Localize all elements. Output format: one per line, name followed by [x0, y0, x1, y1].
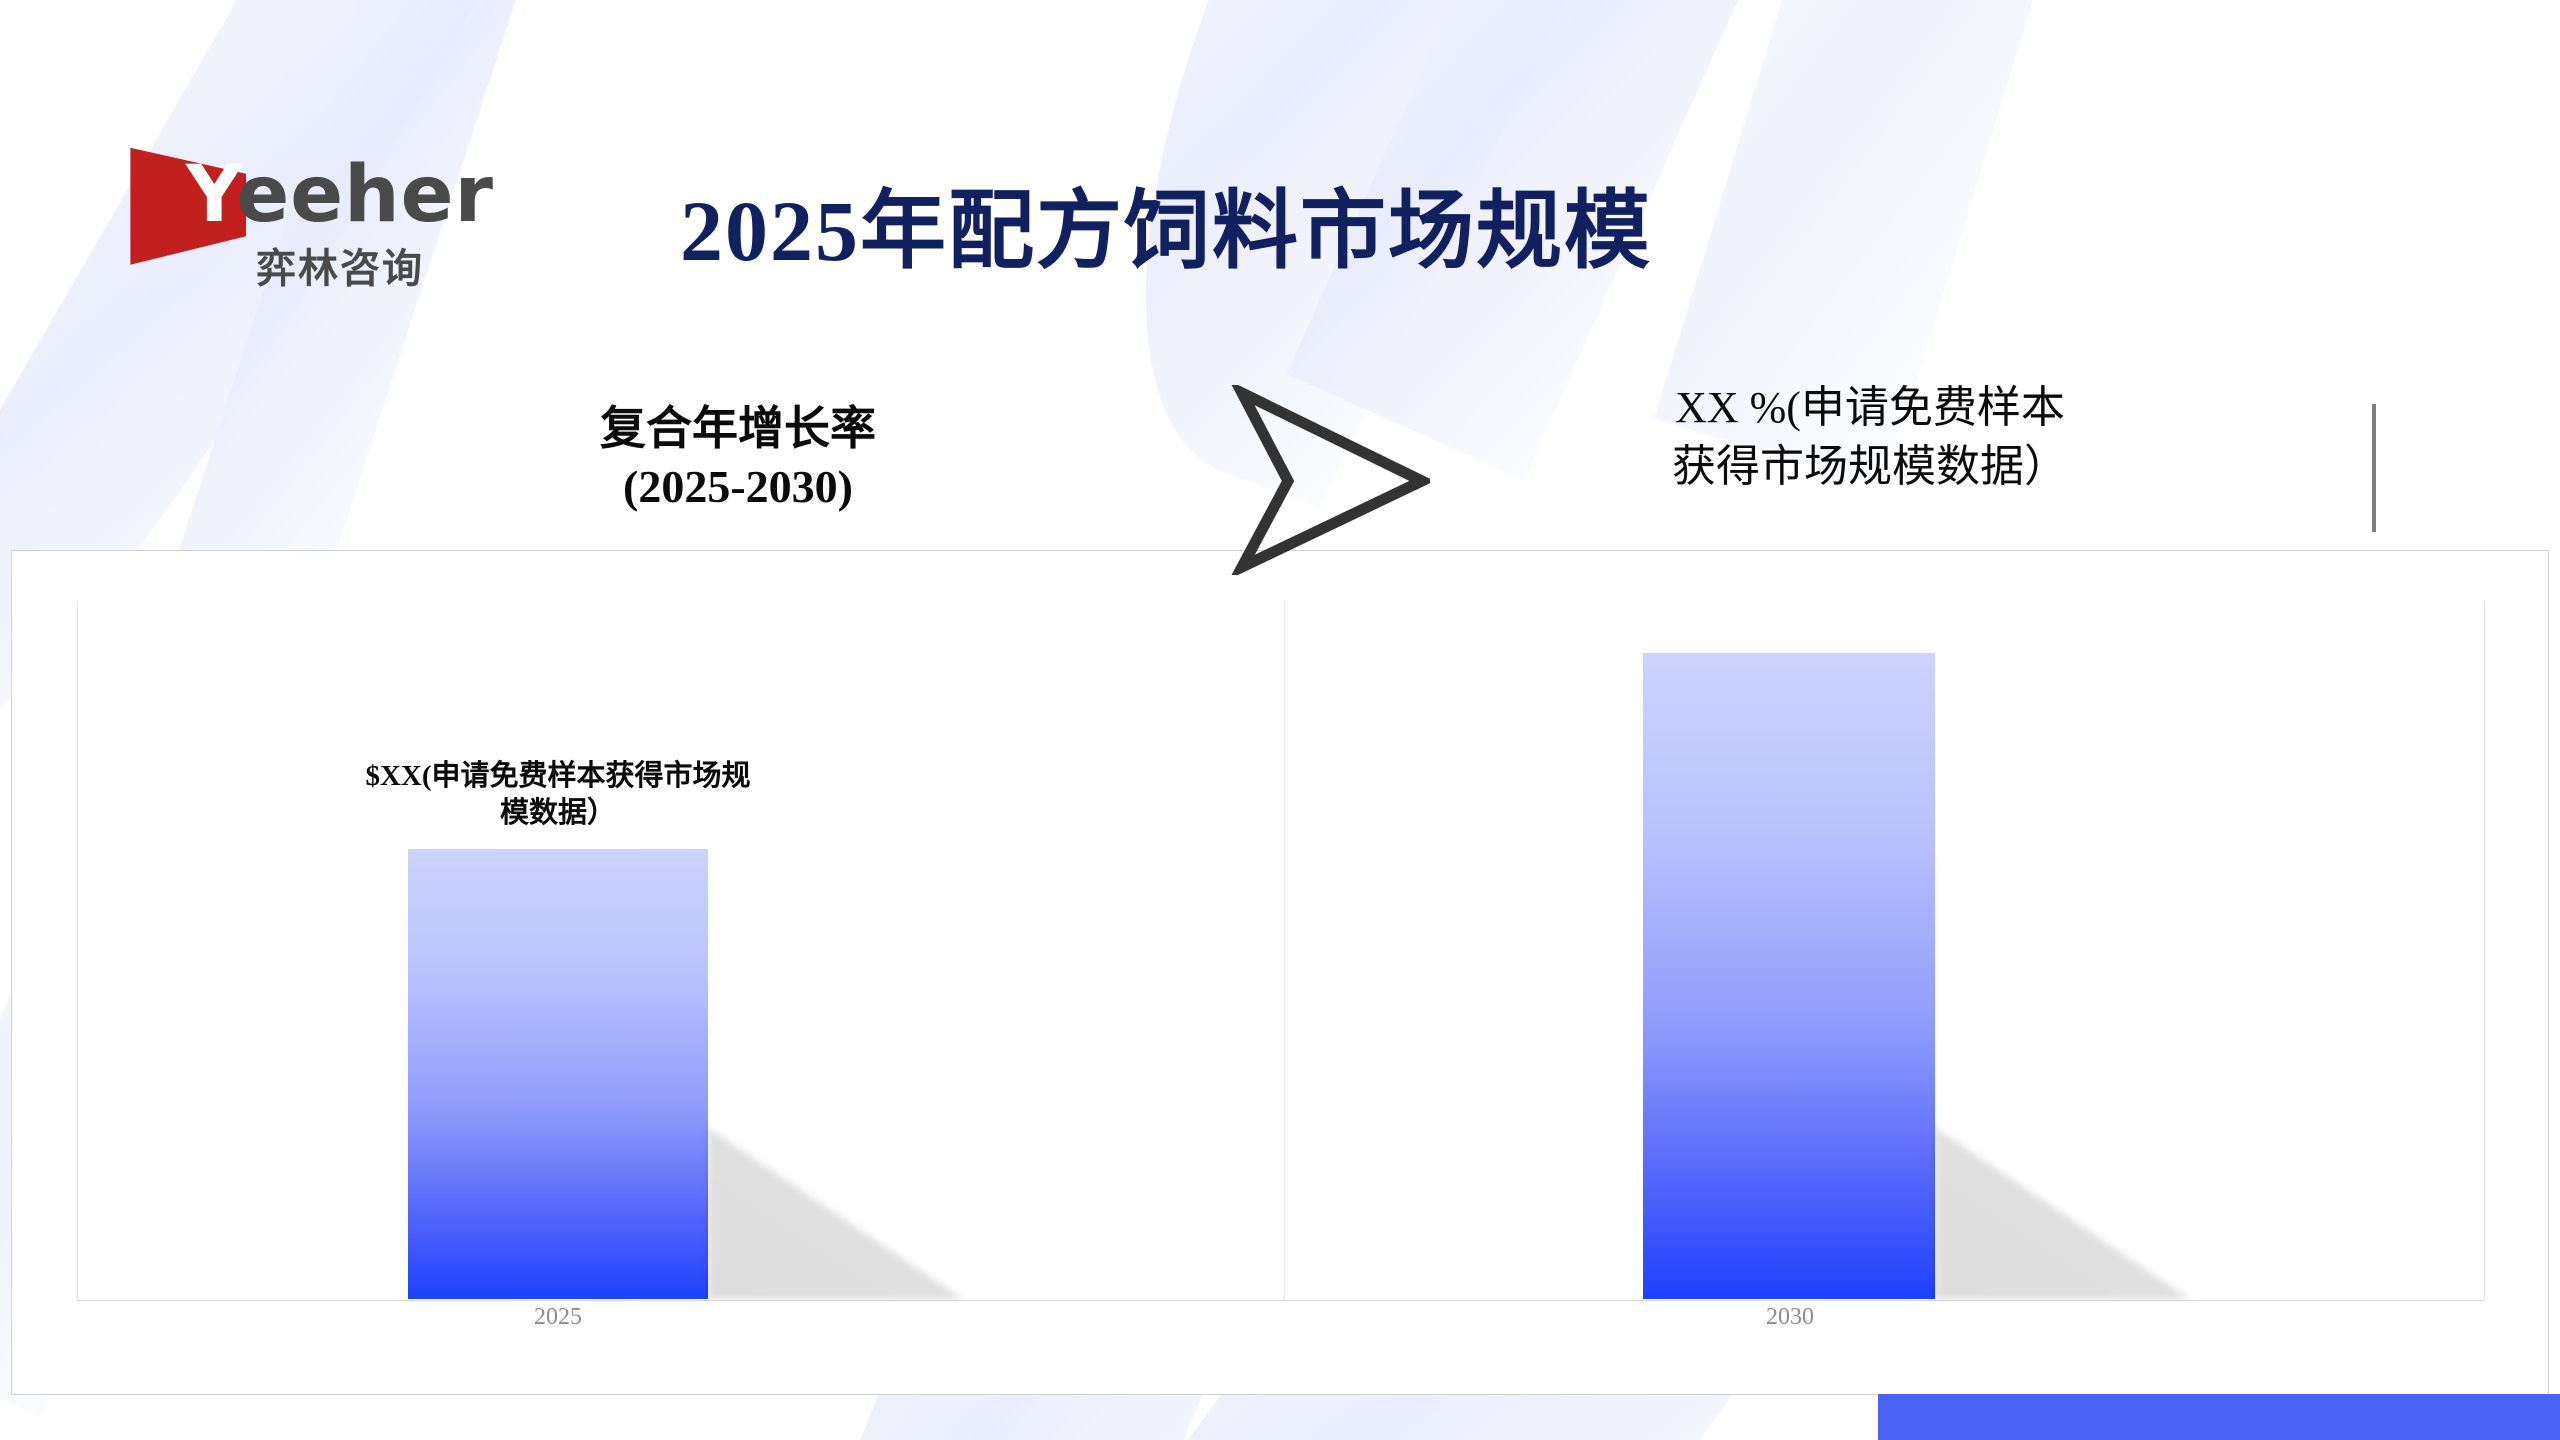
bar-2025[interactable]: $XX(申请免费样本获得市场规 模数据）: [408, 849, 708, 1299]
chevron-right-icon: [1230, 385, 1430, 575]
bar-2030[interactable]: [1643, 653, 1935, 1299]
vertical-divider: [2372, 404, 2376, 532]
cagr-value-callout: XX %(申请免费样本 获得市场规模数据）: [1630, 378, 2110, 497]
bar-value-line2: 模数据）: [343, 795, 773, 833]
bar-group-divider: [1284, 601, 1285, 1301]
cagr-label: 复合年增长率: [548, 400, 928, 458]
bar-value-label-2025: $XX(申请免费样本获得市场规 模数据）: [343, 758, 773, 833]
chart-panel: $XX(申请免费样本获得市场规 模数据） 2025 2030: [11, 550, 2549, 1395]
cagr-value-line2: 获得市场规模数据）: [1630, 437, 2110, 496]
x-axis-label-2025: 2025: [438, 1304, 678, 1331]
logo-wordmark: Yeeher: [186, 156, 494, 234]
cagr-period: (2025-2030): [548, 458, 928, 516]
chart-plot-area: $XX(申请免费样本获得市场规 模数据） 2025 2030: [77, 601, 2485, 1301]
background-swoosh-2: [165, 0, 586, 641]
bar-value-line1: $XX(申请免费样本获得市场规: [343, 758, 773, 796]
accent-band: [1878, 1394, 2560, 1440]
page-title: 2025年配方饲料市场规模: [680, 160, 1652, 285]
x-axis-label-2030: 2030: [1670, 1304, 1910, 1331]
cagr-value-line1: XX %(申请免费样本: [1630, 378, 2110, 437]
cagr-callout: 复合年增长率 (2025-2030): [548, 400, 928, 515]
logo-subtitle: 弈林咨询: [256, 236, 424, 294]
brand-logo: Yeeher 弈林咨询: [128, 120, 478, 290]
bar-shadow-2030: [1935, 1124, 2195, 1299]
bar-group-2030: [1643, 653, 1935, 1299]
logo-word-rest: eeher: [236, 150, 494, 240]
bar-shadow-2025: [708, 1124, 968, 1299]
bar-group-2025: $XX(申请免费样本获得市场规 模数据）: [408, 849, 708, 1299]
logo-letter-y: Y: [186, 150, 236, 240]
